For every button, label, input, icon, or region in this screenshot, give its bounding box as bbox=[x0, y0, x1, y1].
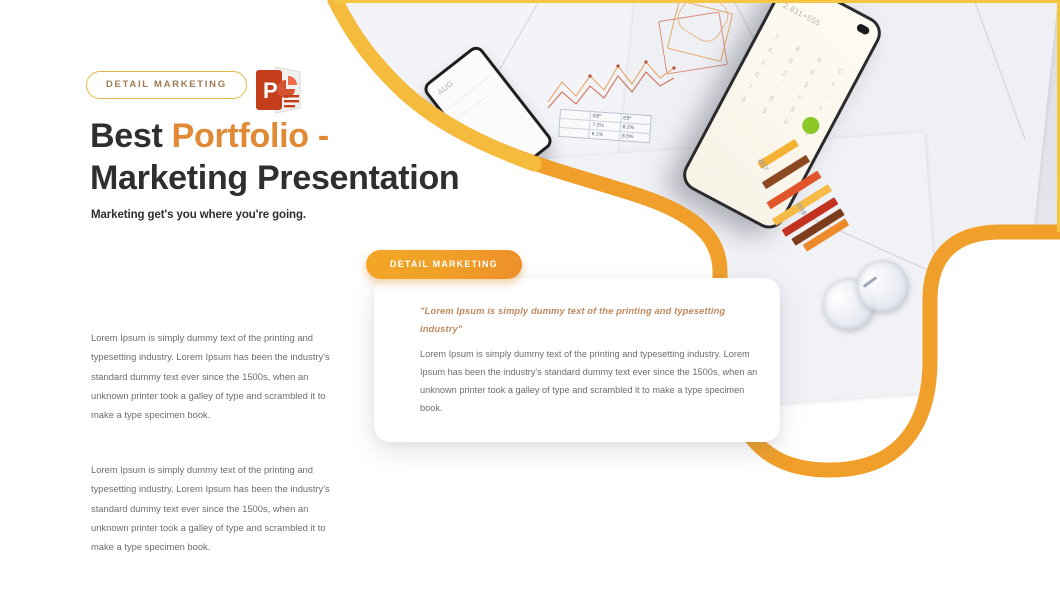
title-part-2: Marketing Presentation bbox=[90, 159, 459, 197]
body-paragraph-2: Lorem Ipsum is simply dummy text of the … bbox=[91, 460, 343, 556]
page-subtitle: Marketing get's you where you're going. bbox=[91, 209, 306, 221]
bar-segment bbox=[533, 191, 571, 281]
calculator-display: 2.811+555 bbox=[782, 1, 822, 28]
bar-segment bbox=[575, 189, 613, 279]
page-title: Best Portfolio - Marketing Presentation bbox=[90, 115, 510, 199]
body-paragraph-1: Lorem Ipsum is simply dummy text of the … bbox=[91, 328, 343, 424]
eyebrow-badge[interactable]: DETAIL MARKETING bbox=[86, 71, 247, 99]
bar-segment bbox=[560, 181, 600, 277]
detail-card: "Lorem Ipsum is simply dummy text of the… bbox=[374, 278, 780, 442]
presentation-slide: E8*E8* 7.2%8.2% 6.1%8.5% AUG 2.811+555 7… bbox=[0, 0, 1060, 596]
powerpoint-icon: P bbox=[254, 63, 306, 117]
title-part-1: Best bbox=[90, 117, 172, 155]
card-text: Lorem Ipsum is simply dummy text of the … bbox=[420, 346, 760, 418]
small-phone-month-label: AUG bbox=[435, 79, 455, 97]
card-quote: "Lorem Ipsum is simply dummy text of the… bbox=[420, 302, 750, 339]
bar-segment bbox=[520, 197, 557, 281]
svg-text:P: P bbox=[263, 78, 278, 103]
line-chart-sketch bbox=[546, 56, 676, 116]
bar-segment bbox=[547, 185, 587, 279]
calculator-keypad: 789C 456x 123- 0.=+ 789C 456x bbox=[732, 30, 851, 142]
phone-camera-icon bbox=[855, 23, 870, 36]
photo-top-border bbox=[335, 0, 1060, 3]
card-badge[interactable]: DETAIL MARKETING bbox=[366, 250, 522, 279]
title-accent: Portfolio - bbox=[172, 117, 329, 155]
